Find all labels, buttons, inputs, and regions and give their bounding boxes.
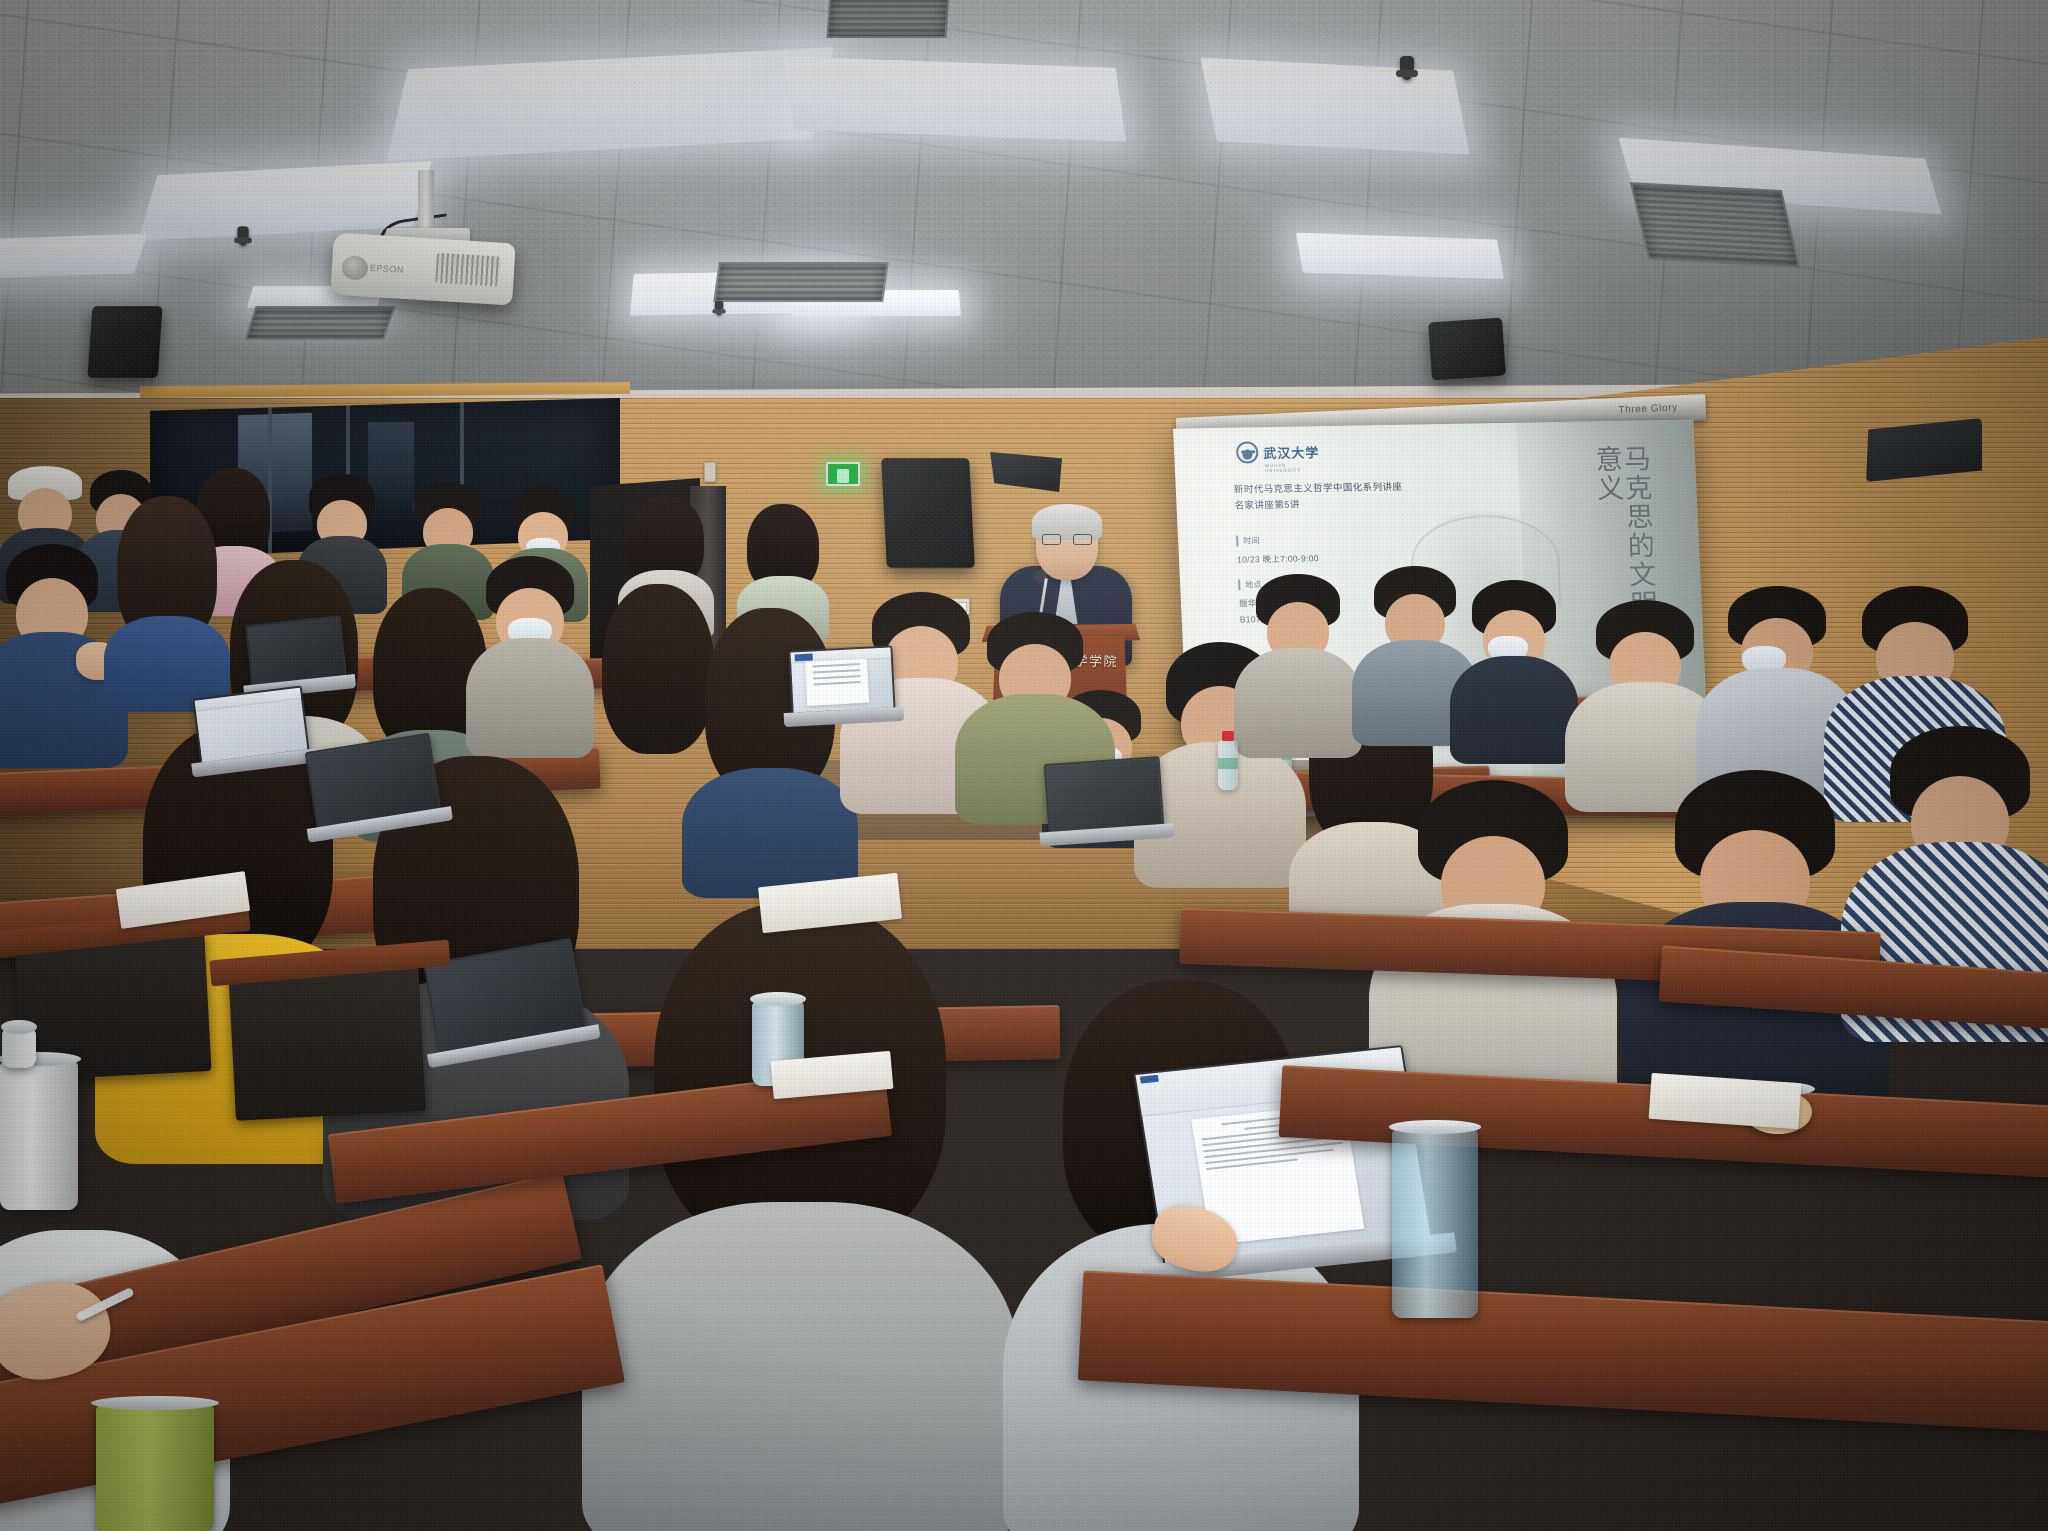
water-bottle [1218,740,1238,790]
torso [582,1202,1018,1531]
laptop[interactable] [245,615,347,687]
laptop[interactable] [192,686,309,765]
ceiling-light-panel [0,233,147,278]
audience-member [1454,580,1574,770]
air-vent [826,0,949,38]
audience-member [1238,574,1358,764]
projector-lens-icon [341,255,368,281]
wall-switch-panel[interactable] [704,462,716,482]
tumbler-cup [2,1028,36,1068]
water-bottle-foreground [1392,1128,1478,1318]
word-tab-icon [1140,1075,1159,1084]
screen-brand-label: Three Glory [1618,402,1678,416]
tumbler-cup [0,1060,78,1210]
audience-member [108,496,226,696]
projector-ceiling-mount [418,170,434,236]
sprinkler-head [1400,56,1414,80]
laptop-screen [788,645,895,714]
wall-speaker [87,306,162,378]
laptop[interactable] [1044,756,1165,834]
ceiling-light-panel [784,56,1126,141]
sprinkler-head [715,301,723,315]
lecture-hall-photo: EPSON Three Glory [0,0,2048,1531]
laptop-screen [1044,756,1165,834]
seat-back [228,961,426,1121]
torso [1450,656,1578,764]
ceiling-light-panel [1296,233,1504,280]
tumbler-cup [96,1404,214,1531]
projector-exhaust-vent [435,253,501,287]
air-vent [1630,182,1800,268]
sprinkler-head [237,226,248,245]
air-vent [244,306,395,340]
audience-member [740,504,826,624]
emergency-exit-sign [826,462,860,486]
torso [682,768,858,898]
laptop[interactable] [788,645,895,714]
torso [466,638,594,758]
ceiling-light-panel [1200,58,1469,155]
projector: EPSON [330,233,515,306]
torso [1234,648,1362,758]
wall-speaker [881,458,975,568]
document-page [805,658,869,706]
audience-member [690,608,850,858]
air-vent [713,262,889,302]
wall-speaker [1428,317,1506,380]
presenter-glasses-icon [1042,534,1092,545]
audience-member [470,556,590,766]
projector-brand-label: EPSON [370,263,405,275]
